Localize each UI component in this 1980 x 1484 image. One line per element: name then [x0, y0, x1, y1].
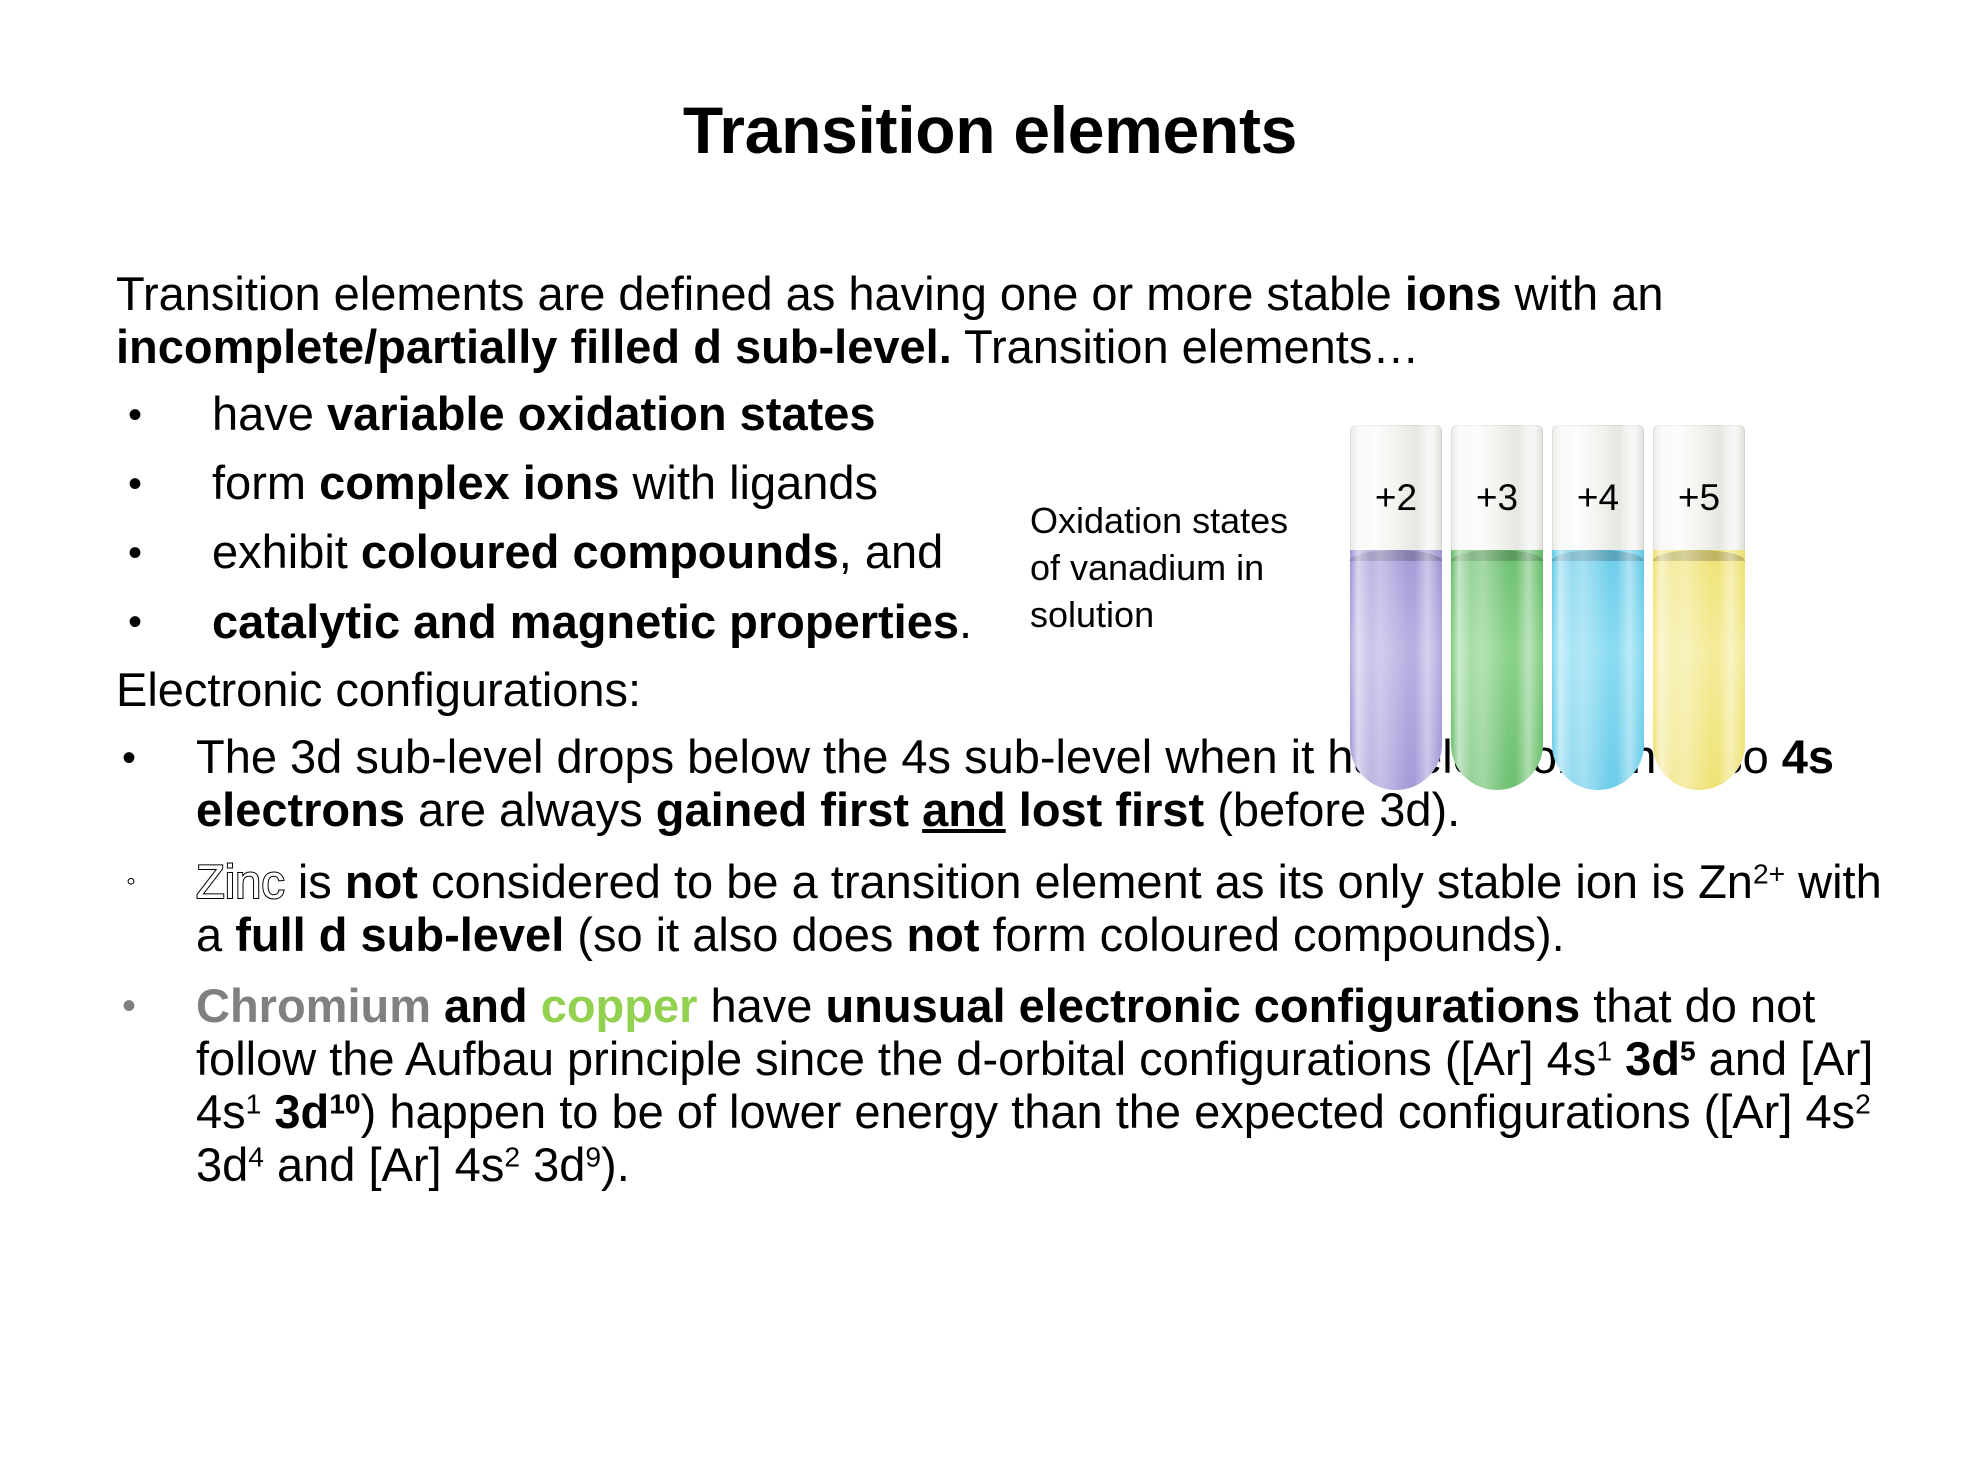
zinc-bold-not: not: [345, 855, 418, 908]
configuration-bullet-list: •The 3d sub-level drops below the 4s sub…: [116, 730, 1906, 1191]
bullet-text-plain: form: [212, 456, 319, 509]
cr-cu-text-and: and: [431, 979, 541, 1032]
cu-bold-3d: 3d: [274, 1085, 329, 1138]
cr-cu-text-6: [261, 1085, 274, 1138]
bullet-dot-icon: •: [128, 459, 142, 509]
bullet-text-bold: catalytic and magnetic properties: [212, 595, 959, 648]
config-text-2: are always: [405, 783, 656, 836]
oxidation-state-label: +5: [1653, 477, 1745, 519]
bullet-dot-icon: •: [122, 981, 136, 1031]
chromium-word: Chromium: [196, 979, 431, 1032]
liquid-green: [1451, 550, 1543, 790]
liquid-purple: [1350, 550, 1442, 790]
caption-line-2: of vanadium in: [1030, 545, 1330, 592]
test-tube-vanadium-5: +5: [1653, 425, 1745, 790]
zinc-bold-full-d: full d sub-level: [235, 908, 564, 961]
zinc-outline-word: Zinc: [196, 855, 285, 908]
cr-cu-text-11: ).: [601, 1138, 630, 1191]
cr-cu-text-10: 3d: [520, 1138, 585, 1191]
oxidation-state-label: +2: [1350, 477, 1442, 519]
liquid-blue: [1552, 550, 1644, 790]
bullet-text-tail: with ligands: [619, 456, 878, 509]
zinc-charge-superscript: 2+: [1753, 857, 1785, 889]
intro-bold-sublevel: incomplete/partially filled d sub-level.: [116, 320, 952, 373]
cr-cu-text-7: ) happen to be of lower energy than the …: [361, 1085, 1855, 1138]
expected-3d4-superscript: 4: [248, 1140, 264, 1172]
test-tube-vanadium-4: +4: [1552, 425, 1644, 790]
config-text-3: (before 3d).: [1204, 783, 1460, 836]
oxidation-state-label: +3: [1451, 477, 1543, 519]
test-tube-vanadium-3: +3: [1451, 425, 1543, 790]
zinc-bold-not-2: not: [906, 908, 979, 961]
intro-text-2: with an: [1502, 267, 1664, 320]
bullet-text-plain: exhibit: [212, 525, 361, 578]
bullet-text-tail: .: [959, 595, 972, 648]
cr-4s1-superscript: 1: [1596, 1034, 1612, 1066]
list-item: •Chromium and copper have unusual electr…: [116, 979, 1906, 1191]
expected-3d9-superscript: 9: [585, 1140, 601, 1172]
cr-cu-bold-unusual: unusual electronic configurations: [825, 979, 1580, 1032]
test-tube-rack-image: +2 +3 +4 +5: [1350, 425, 1750, 790]
zinc-text-5: form coloured compounds).: [980, 908, 1565, 961]
cr-3d5-superscript: 5: [1680, 1034, 1696, 1066]
cr-cu-text-9: and [Ar] 4s: [264, 1138, 504, 1191]
config-bold-gained-first: gained first: [656, 783, 922, 836]
bullet-circle-icon: ◦: [126, 863, 136, 898]
cr-bold-3d: 3d: [1625, 1032, 1680, 1085]
cu-4s1-superscript: 1: [246, 1087, 262, 1119]
liquid-yellow: [1653, 550, 1745, 790]
expected-4s2-superscript-b: 2: [504, 1140, 520, 1172]
intro-paragraph: Transition elements are defined as havin…: [116, 268, 1816, 373]
cr-cu-text-2: have: [697, 979, 825, 1032]
page-title: Transition elements: [0, 96, 1980, 165]
list-item: ◦Zinc is not considered to be a transiti…: [116, 855, 1906, 961]
zinc-text-1: is: [285, 855, 345, 908]
test-tube-vanadium-2: +2: [1350, 425, 1442, 790]
bullet-dot-icon: •: [128, 597, 142, 647]
copper-word: copper: [541, 979, 698, 1032]
config-bold-underline-and: and: [922, 783, 1006, 836]
bullet-text-tail: , and: [839, 525, 944, 578]
cu-3d10-superscript: 10: [329, 1087, 360, 1119]
bullet-text-bold: complex ions: [319, 456, 619, 509]
cr-cu-text-4: [1612, 1032, 1625, 1085]
intro-text-1: Transition elements are defined as havin…: [116, 267, 1405, 320]
bullet-dot-icon: •: [128, 528, 142, 578]
caption-line-1: Oxidation states: [1030, 498, 1330, 545]
cr-cu-text-8: 3d: [196, 1138, 248, 1191]
oxidation-state-label: +4: [1552, 477, 1644, 519]
intro-text-3: Transition elements…: [952, 320, 1420, 373]
bullet-text-bold: variable oxidation states: [327, 387, 876, 440]
bullet-text-bold: coloured compounds: [361, 525, 839, 578]
zinc-text-4: (so it also does: [564, 908, 906, 961]
vanadium-caption: Oxidation states of vanadium in solution: [1030, 420, 1330, 638]
caption-line-3: solution: [1030, 592, 1330, 639]
intro-bold-ions: ions: [1405, 267, 1502, 320]
bullet-dot-icon: •: [128, 390, 142, 440]
bullet-dot-icon: •: [122, 733, 136, 783]
zinc-text-2: considered to be a transition element as…: [418, 855, 1753, 908]
expected-4s2-superscript-a: 2: [1855, 1087, 1871, 1119]
config-bold-lost-first: lost first: [1006, 783, 1204, 836]
bullet-text-plain: have: [212, 387, 327, 440]
